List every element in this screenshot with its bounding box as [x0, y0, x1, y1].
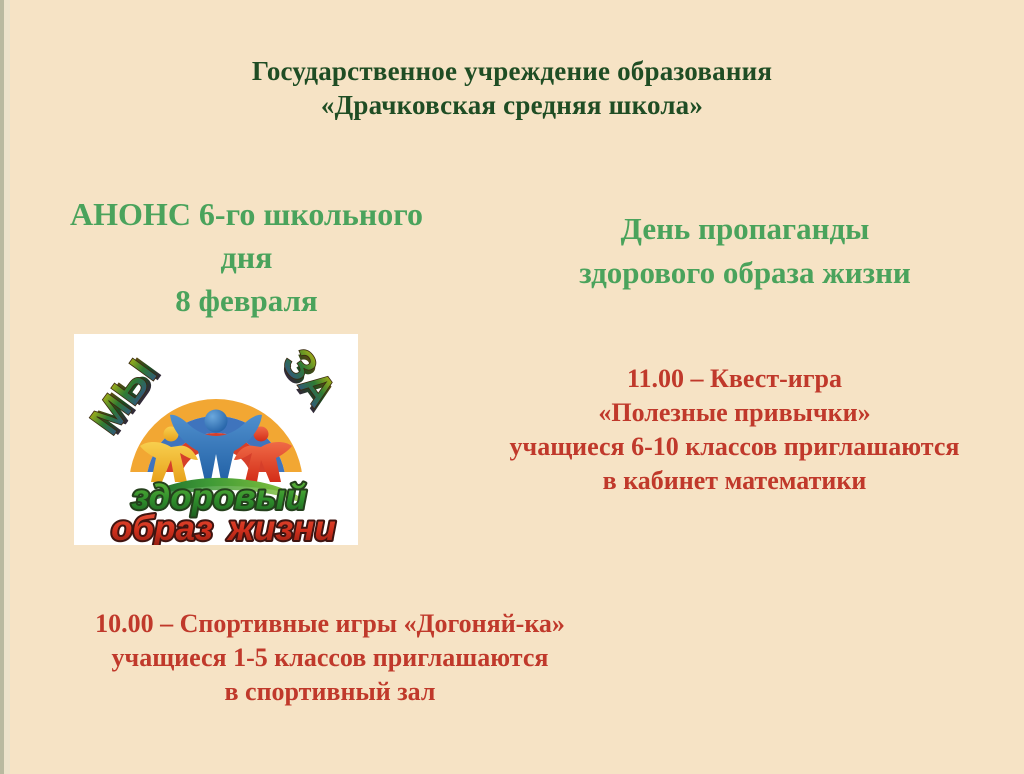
- school-header-line-1: Государственное учреждение образования: [252, 56, 772, 86]
- day-title-line-1: День пропаганды: [495, 207, 995, 251]
- day-title: День пропаганды здорового образа жизни: [495, 207, 995, 295]
- healthy-lifestyle-logo-card: МЫ МЫ ЗА ЗА здоровый здоровый образ обра…: [74, 334, 358, 545]
- event-quest-block: 11.00 – Квест-игра «Полезные привычки» у…: [462, 362, 1007, 498]
- poster-canvas: Государственное учреждение образования «…: [0, 0, 1024, 774]
- logo-word-zhizni-face: жизни: [226, 509, 336, 545]
- day-title-line-2: здорового образа жизни: [495, 251, 995, 295]
- event-sport-line-3: в спортивный зал: [30, 675, 630, 709]
- announcement-line-1: АНОНС 6-го школьного: [34, 193, 459, 236]
- event-sport-line-2: учащиеся 1-5 классов приглашаются: [30, 641, 630, 675]
- announcement-line-2: дня: [34, 236, 459, 279]
- announcement-date: 8 февраля: [34, 279, 459, 322]
- announcement-heading: АНОНС 6-го школьного дня 8 февраля: [34, 193, 459, 322]
- logo-word-obraz-face: образ: [111, 509, 213, 545]
- event-sport-block: 10.00 – Спортивные игры «Догоняй-ка» уча…: [30, 607, 630, 709]
- event-quest-line-3: учащиеся 6-10 классов приглашаются: [462, 430, 1007, 464]
- event-quest-line-1: 11.00 – Квест-игра: [462, 362, 1007, 396]
- event-sport-line-1: 10.00 – Спортивные игры «Догоняй-ка»: [30, 607, 630, 641]
- school-header-line-2: «Драчковская средняя школа»: [0, 88, 1024, 122]
- logo-word-obraz: образ образ: [111, 509, 213, 545]
- event-quest-line-2: «Полезные привычки»: [462, 396, 1007, 430]
- healthy-lifestyle-logo-icon: МЫ МЫ ЗА ЗА здоровый здоровый образ обра…: [74, 334, 358, 545]
- logo-stage: МЫ МЫ ЗА ЗА здоровый здоровый образ обра…: [74, 334, 358, 545]
- school-header: Государственное учреждение образования «…: [0, 54, 1024, 122]
- event-quest-line-4: в кабинет математики: [462, 464, 1007, 498]
- logo-word-zhizni: жизни жизни: [226, 509, 336, 545]
